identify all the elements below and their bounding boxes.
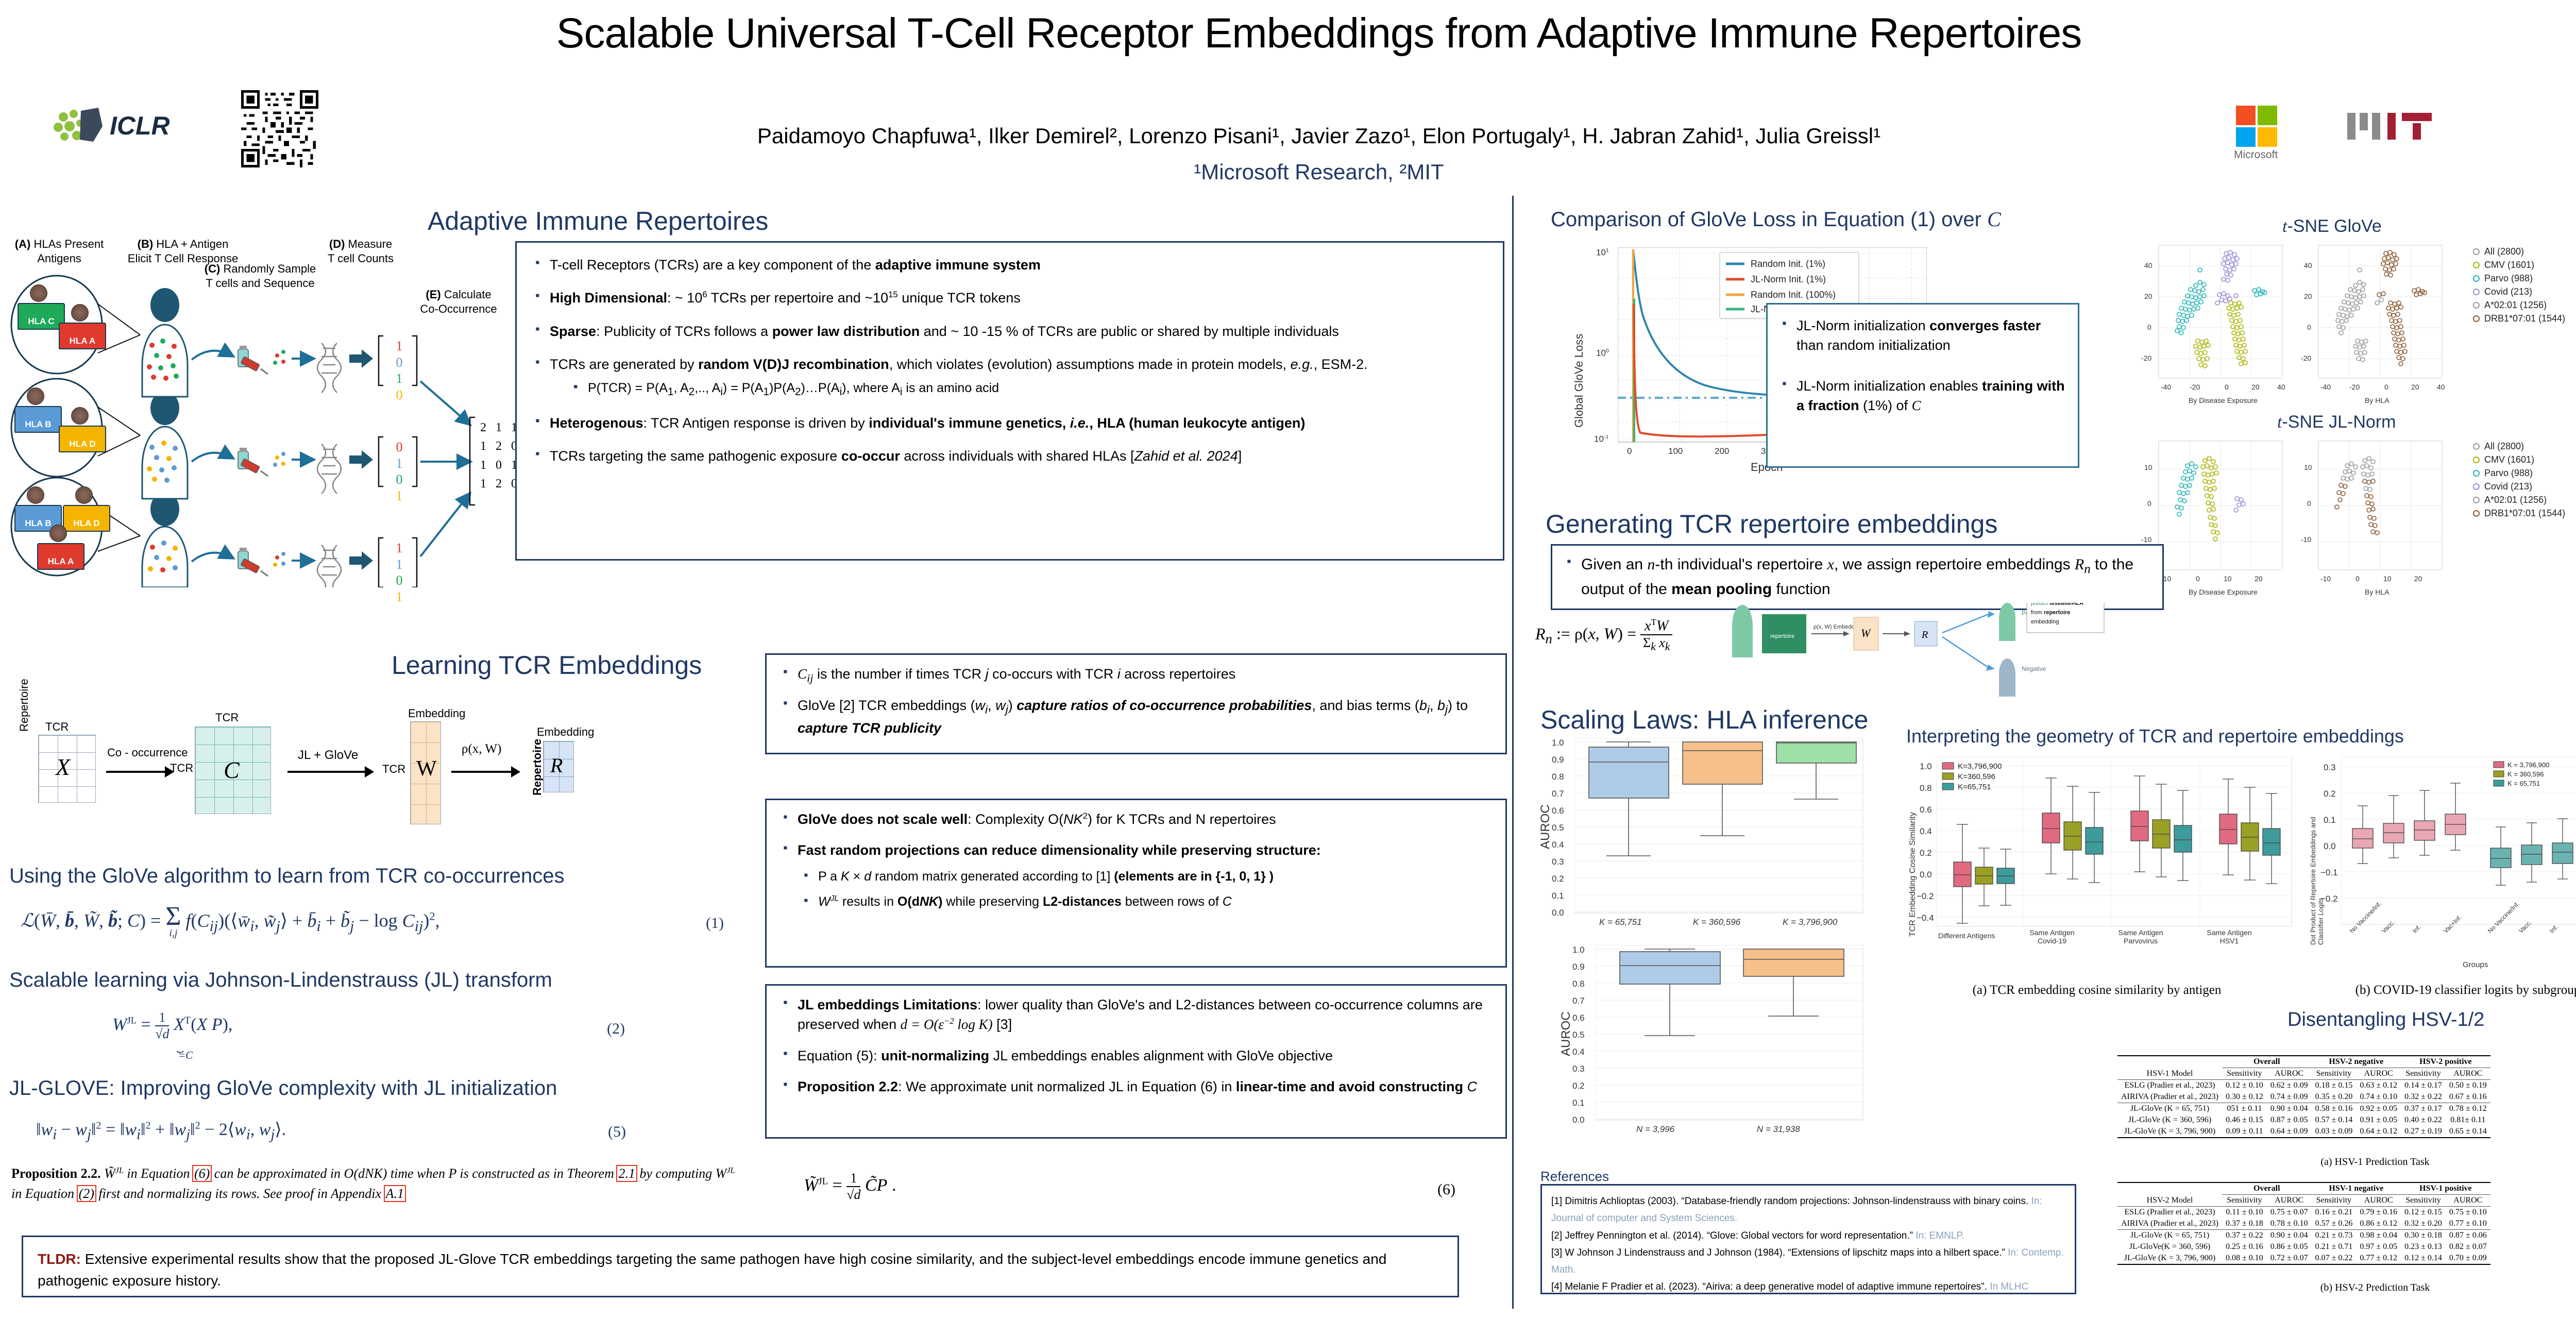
- hla-k-ytick-10: 1.0: [1552, 738, 1564, 748]
- equation-5-number: (5): [608, 1123, 626, 1141]
- flow-arrow-2-label: JL + GloVe: [298, 748, 358, 763]
- hsv1-r0-c0: 0.12 ± 0.10: [2222, 1080, 2267, 1092]
- svg-text:By Disease Exposure: By Disease Exposure: [2189, 396, 2258, 404]
- matrix-R-symbol: R: [550, 753, 563, 777]
- hsv1-r3-c3: 0.91 ± 0.05: [2356, 1114, 2401, 1126]
- hla-n-ytick-06: 0.6: [1572, 1013, 1585, 1023]
- flow-arrow-2-head: [365, 766, 374, 777]
- air-bullet-4: TCRs are generated by random V(D)J recom…: [532, 354, 1487, 400]
- legend-item-drb10701: DRB1*07:01 (1544): [2473, 508, 2565, 519]
- svg-text:-20: -20: [2141, 354, 2151, 362]
- hsv1-r0-c2: 0.18 ± 0.15: [2312, 1080, 2357, 1092]
- hsv2-r4-c1: 0.72 ± 0.07: [2267, 1253, 2312, 1264]
- jl-bullet-list: JL embeddings Limitations: lower quality…: [767, 986, 1505, 1119]
- svg-text:By Disease Exposure: By Disease Exposure: [2189, 588, 2258, 596]
- svg-text:repertoire: repertoire: [1770, 633, 1794, 639]
- matrix-C-symbol: C: [224, 756, 240, 784]
- hla-k-ytick-09: 0.9: [1552, 755, 1564, 765]
- scaling-bullet-1: GloVe does not scale well: Complexity O(…: [780, 809, 1492, 829]
- antigen-icon: [49, 525, 67, 542]
- section-jl-glove: JL-GLOVE: Improving GloVe complexity wit…: [9, 1077, 557, 1100]
- hsv1-r2-c4: 0.37 ± 0.17: [2401, 1103, 2446, 1115]
- poster-root: Scalable Universal T-Cell Receptor Embed…: [0, 0, 2576, 1319]
- hla-k-xtick-1: K = 65,751: [1599, 917, 1642, 927]
- tcell-count-vector-3: 11 01: [387, 540, 411, 605]
- logits-xlabel: Groups: [2463, 960, 2488, 969]
- svg-text:0: 0: [2196, 574, 2200, 583]
- mit-logo: [2344, 106, 2447, 147]
- hla-k-ytick-04: 0.4: [1552, 840, 1564, 850]
- equation-2-number: (2): [607, 1020, 625, 1038]
- svg-text:20: 20: [2144, 292, 2153, 300]
- hsv2-sub-4: Sensitivity: [2401, 1195, 2446, 1207]
- tcell-count-vector-2: 01 01: [387, 439, 411, 504]
- hla-chip-d: HLA D: [59, 426, 106, 452]
- section-disentangling: Disentangling HSV-1/2: [2287, 1009, 2484, 1031]
- hsv1-r2-c0: 051 ± 0.11: [2222, 1103, 2267, 1115]
- hsv2-r2-c1: 0.90 ± 0.04: [2267, 1230, 2312, 1242]
- antigen-icon: [30, 284, 47, 302]
- hsv1-r0-c5: 0.50 ± 0.19: [2446, 1080, 2490, 1092]
- flow-label-tcr-w: TCR: [382, 763, 405, 776]
- svg-text:40: 40: [2437, 383, 2445, 391]
- flow-arrow-3-head: [511, 766, 520, 777]
- hsv1-sub-5: AUROC: [2446, 1068, 2490, 1080]
- hsv2-r2-c2: 0.21 ± 0.73: [2312, 1230, 2357, 1242]
- table-row: JL-GloVe (K = 360, 596) 0.46 ± 0.15 0.87…: [2117, 1114, 2490, 1126]
- cos-ytick-06: 0.6: [1920, 805, 1932, 815]
- svg-text:0: 0: [2307, 499, 2311, 508]
- table-row: ESLG (Pradier et al., 2023) 0.12 ± 0.10 …: [2117, 1080, 2490, 1092]
- flow-label-tcr-c-top: TCR: [215, 711, 239, 724]
- air-bullet-5: Heterogenous: TCR Antigen response is dr…: [532, 413, 1487, 433]
- svg-text:K = 360,596: K = 360,596: [2507, 770, 2544, 778]
- hsv1-r4-c3: 0.64 ± 0.12: [2356, 1126, 2401, 1138]
- hla-k-ytick-07: 0.7: [1552, 789, 1564, 799]
- tcell-count-vector-1: 10 10: [387, 338, 411, 403]
- hsv2-results-table: Overall HSV-1 negative HSV-1 positive HS…: [2117, 1182, 2490, 1265]
- table-row: JL-GloVe (K = 65, 751) 0.37 ± 0.22 0.90 …: [2117, 1230, 2490, 1242]
- legend-item-parvo: Parvo (988): [2473, 273, 2565, 284]
- reference-item-1: [1] Dimitris Achlioptas (2003). “Databas…: [1551, 1193, 2065, 1227]
- hsv2-r1-name: AIRIVA (Pradier et al., 2023): [2117, 1218, 2222, 1230]
- hsv2-r2-c5: 0.87 ± 0.06: [2446, 1230, 2490, 1242]
- legend-item-a0201: A*02:01 (1256): [2473, 300, 2565, 311]
- hsv1-r3-name: JL-GloVe (K = 360, 596): [2117, 1114, 2222, 1126]
- hsv1-group-pos: HSV-2 positive: [2401, 1056, 2490, 1068]
- repertoire-pipeline-figure: repertoire ρ(x, W) Embedding W R: [1721, 603, 2159, 716]
- section-glove-algorithm: Using the GloVe algorithm to learn from …: [9, 865, 564, 888]
- covid-logits-caption: (b) COVID-19 classifier logits by subgro…: [2308, 983, 2576, 997]
- hsv2-row-header: HSV-2 Model: [2117, 1195, 2222, 1207]
- scaling-bullet-list: GloVe does not scale well: Complexity O(…: [767, 800, 1505, 934]
- flow-label-tcr-c-left: TCR: [170, 762, 193, 775]
- hla-k-ytick-00: 0.0: [1552, 908, 1564, 918]
- hsv2-r0-c3: 0.79 ± 0.16: [2356, 1207, 2401, 1219]
- flow-arrow-2: [287, 771, 366, 773]
- section-scaling-laws: Scaling Laws: HLA inference: [1540, 705, 1868, 735]
- hsv2-sub-5: AUROC: [2446, 1195, 2490, 1207]
- hsv1-group-header-row: Overall HSV-2 negative HSV-2 positive: [2117, 1056, 2490, 1068]
- table-row: JL-GloVe (K = 65, 751) 051 ± 0.11 0.90 ±…: [2117, 1103, 2490, 1115]
- hsv1-r3-c0: 0.46 ± 0.15: [2222, 1114, 2267, 1126]
- svg-text:K=360,596: K=360,596: [1958, 772, 1995, 781]
- air-bullet-2: High Dimensional: ~ 106 TCRs per reperto…: [532, 288, 1487, 308]
- logits-ytick-01: 0.1: [2324, 815, 2336, 825]
- table-row: AIRIVA (Pradier et al., 2023) 0.30 ± 0.1…: [2117, 1091, 2490, 1103]
- svg-text:By HLA: By HLA: [2365, 588, 2389, 596]
- glove-loss-bullet-1: JL-Norm initialization converges faster …: [1779, 316, 2066, 356]
- glove-loss-bullet-box: JL-Norm initialization converges faster …: [1766, 303, 2079, 468]
- svg-text:20: 20: [2251, 383, 2260, 391]
- hsv1-r0-c1: 0.62 ± 0.09: [2267, 1080, 2312, 1092]
- hla-n-ytick-01: 0.1: [1572, 1098, 1585, 1108]
- hsv2-r0-c5: 0.75 ± 0.10: [2446, 1207, 2490, 1219]
- references-box: [1] Dimitris Achlioptas (2003). “Databas…: [1540, 1184, 2076, 1294]
- hsv1-r1-c2: 0.35 ± 0.20: [2312, 1091, 2357, 1103]
- svg-text:-40: -40: [2320, 383, 2331, 391]
- cos-ytick-m02: −0.2: [1917, 891, 1934, 902]
- hsv2-r3-c2: 0.21 ± 0.71: [2312, 1241, 2357, 1253]
- hsv1-r2-c2: 0.58 ± 0.16: [2312, 1103, 2357, 1115]
- glove-loss-bullet-2: JL-Norm initialization enables training …: [1779, 376, 2066, 416]
- tsne-glove-title: t-SNE GloVe: [2282, 216, 2382, 236]
- cos-ytick-00: 0.0: [1920, 870, 1932, 880]
- hsv1-r0-c3: 0.63 ± 0.12: [2356, 1080, 2401, 1092]
- svg-text:10: 10: [2144, 463, 2153, 471]
- hsv2-r2-name: JL-GloVe (K = 65, 751): [2117, 1230, 2222, 1242]
- tsne-jlnorm-legend: All (2800) CMV (1601) Parvo (988) Covid …: [2473, 441, 2565, 521]
- flow-arrow-3-label: ρ(x, W): [462, 742, 501, 756]
- page-title: Scalable Universal T-Cell Receptor Embed…: [0, 9, 2576, 58]
- hsv2-r4-name: JL-GloVe (K = 3, 796, 900): [2117, 1253, 2222, 1264]
- cos-ytick-10: 1.0: [1920, 762, 1932, 772]
- hla-n-ylabel: AUROC: [1559, 1011, 1573, 1056]
- glove-loss-ytick-1: 101: [1596, 247, 1609, 258]
- equation-2: WJL = 1 √d XT(X P), ⏟ =C: [112, 1010, 232, 1042]
- hsv1-r1-name: AIRIVA (Pradier et al., 2023): [2117, 1091, 2222, 1103]
- tldr-text: Extensive experimental results show that…: [38, 1251, 1386, 1289]
- hsv2-r1-c5: 0.77 ± 0.10: [2446, 1218, 2490, 1230]
- learning-bullet-1: Cij is the number if times TCR j co-occu…: [780, 664, 1492, 686]
- hsv2-r4-c0: 0.08 ± 0.10: [2222, 1253, 2267, 1264]
- legend-item-cmv: CMV (1601): [2473, 260, 2565, 270]
- flow-label-embedding-r: Embedding: [537, 725, 594, 739]
- hsv2-sub-2: Sensitivity: [2312, 1195, 2357, 1207]
- hsv1-r2-c1: 0.90 ± 0.04: [2267, 1103, 2312, 1115]
- svg-text:20: 20: [2411, 383, 2419, 391]
- hsv1-r3-c1: 0.87 ± 0.05: [2267, 1114, 2312, 1126]
- flow-label-tcr-x: TCR: [45, 720, 69, 734]
- hsv2-sub-0: Sensitivity: [2222, 1195, 2267, 1207]
- antigen-icon: [27, 486, 44, 504]
- hsv1-sub-1: AUROC: [2267, 1068, 2312, 1080]
- svg-text:10: 10: [2224, 574, 2232, 583]
- hla-k-xtick-2: K = 360,596: [1693, 917, 1740, 927]
- equation-1-number: (1): [706, 915, 724, 932]
- svg-text:40: 40: [2144, 261, 2153, 269]
- flow-arrow-1: [106, 771, 166, 773]
- svg-text:-40: -40: [2161, 383, 2171, 391]
- svg-text:-20: -20: [2301, 354, 2311, 362]
- svg-text:K = 3,796,900: K = 3,796,900: [2507, 761, 2549, 769]
- hsv1-r4-name: JL-GloVe (K = 3, 796, 900): [2117, 1126, 2222, 1138]
- hsv2-r1-c0: 0.37 ± 0.18: [2222, 1218, 2267, 1230]
- tsne-glove-legend: All (2800) CMV (1601) Parvo (988) Covid …: [2473, 246, 2565, 327]
- jl-bullet-2: Equation (5): unit-normalizing JL embedd…: [780, 1046, 1492, 1066]
- hsv1-r1-c5: 0.67 ± 0.16: [2446, 1091, 2490, 1103]
- hsv1-r1-c0: 0.30 ± 0.12: [2222, 1091, 2267, 1103]
- hsv2-r0-c1: 0.75 ± 0.07: [2267, 1207, 2312, 1219]
- hsv1-r4-c0: 0.09 ± 0.11: [2222, 1126, 2267, 1138]
- cos-xtick-2: Same AntigenCovid-19: [2024, 928, 2080, 945]
- equation-5: ‖wi − wj‖2 = ‖wi‖2 + ‖wj‖2 − 2⟨wi, wj⟩.: [36, 1119, 286, 1143]
- equation-6-number: (6): [1437, 1181, 1455, 1198]
- svg-text:40: 40: [2304, 261, 2312, 269]
- logits-ytick-00: 0.0: [2324, 841, 2336, 852]
- svg-text:predict disease/HLA: predict disease/HLA: [2031, 603, 2083, 606]
- jl-bullet-3: Proposition 2.2: We approximate unit nor…: [780, 1077, 1492, 1096]
- legend-item-parvo: Parvo (988): [2473, 468, 2565, 479]
- tsne-jlnorm-chart: 100-10 100-10 -1001020 -1001020 By Disea…: [2138, 438, 2478, 608]
- hsv2-sub-header-row: HSV-2 Model Sensitivity AUROC Sensitivit…: [2117, 1195, 2490, 1207]
- hsv2-group-neg: HSV-1 negative: [2312, 1182, 2401, 1195]
- cosine-similarity-caption: (a) TCR embedding cosine similarity by a…: [1906, 983, 2287, 997]
- glove-loss-xtick-0: 0: [1627, 446, 1632, 456]
- glove-loss-ytick-2: 100: [1596, 348, 1609, 359]
- scaling-bullet-2b: WJL results in O(dNK) while preserving L…: [801, 893, 1492, 911]
- hla-k-ylabel: AUROC: [1538, 804, 1553, 849]
- hla-k-ytick-06: 0.6: [1552, 806, 1564, 816]
- cos-xtick-1: Different Antigens: [1938, 932, 1995, 940]
- hsv2-r0-name: ESLG (Pradier et al., 2023): [2117, 1207, 2222, 1219]
- svg-text:JL-Norm Init. (1%): JL-Norm Init. (1%): [1751, 274, 1826, 284]
- svg-text:-10: -10: [2320, 574, 2331, 583]
- hsv1-r3-c2: 0.57 ± 0.14: [2312, 1114, 2357, 1126]
- flow-label-repertoire: Repertoire: [18, 679, 31, 732]
- hsv2-r1-c1: 0.78 ± 0.10: [2267, 1218, 2312, 1230]
- hla-n-ytick-10: 1.0: [1572, 945, 1585, 955]
- hsv2-r3-c4: 0.23 ± 0.13: [2401, 1241, 2446, 1253]
- hsv2-r4-c3: 0.77 ± 0.12: [2356, 1253, 2401, 1264]
- tsne-glove-chart: 40200-20 40200-20 -40-200 2040 -40-200 2…: [2138, 242, 2478, 412]
- tldr-label: TLDR:: [38, 1251, 81, 1267]
- air-bullet-4a: ▪ P(TCR) = P(A1, A2,.., Ai) = P(A1)P(A2)…: [570, 379, 1487, 400]
- table-row: JL-GloVe (K = 3, 796, 900) 0.08 ± 0.10 0…: [2117, 1253, 2490, 1264]
- legend-item-cmv: CMV (1601): [2473, 454, 2565, 465]
- logits-ytick-02: 0.2: [2324, 789, 2336, 799]
- hsv1-r4-c4: 0.27 ± 0.19: [2401, 1126, 2446, 1138]
- cos-ytick-04: 0.4: [1920, 826, 1932, 837]
- hla-n-xtick-2: N = 31,938: [1757, 1124, 1800, 1135]
- legend-item-drb10701: DRB1*07:01 (1544): [2473, 313, 2565, 324]
- flow-label-embedding-w: Embedding: [408, 707, 465, 720]
- section-jl-transform: Scalable learning via Johnson-Lindenstra…: [9, 969, 552, 992]
- hsv1-r1-c3: 0.74 ± 0.10: [2356, 1091, 2401, 1103]
- microsoft-logo: Microsoft: [2221, 100, 2308, 162]
- hla-n-ytick-04: 0.4: [1572, 1047, 1585, 1057]
- svg-text:Random Init. (1%): Random Init. (1%): [1751, 259, 1825, 269]
- hla-n-ytick-08: 0.8: [1572, 979, 1585, 989]
- equation-rn: Rn := ρ(x, W) = xTW Σk xk: [1535, 617, 1672, 654]
- hsv1-sub-3: AUROC: [2356, 1068, 2401, 1080]
- reference-item-4: [4] Melanie F Pradier et al. (2023). “Ai…: [1551, 1278, 2065, 1295]
- hsv1-r4-c1: 0.64 ± 0.09: [2267, 1126, 2312, 1138]
- hsv1-table-caption: (a) HSV-1 Prediction Task: [2117, 1156, 2576, 1168]
- air-bullet-3: Sparse: Publicity of TCRs follows a powe…: [532, 322, 1487, 341]
- hsv2-r1-c2: 0.57 ± 0.26: [2312, 1218, 2357, 1230]
- jl-limitations-box: JL embeddings Limitations: lower quality…: [765, 984, 1507, 1139]
- hsv1-group-neg: HSV-2 negative: [2312, 1056, 2401, 1068]
- svg-text:20: 20: [2414, 574, 2422, 583]
- cos-xtick-3: Same AntigenParvovirus: [2112, 928, 2169, 945]
- cos-ytick-m04: −0.4: [1917, 913, 1934, 923]
- hsv2-r2-c3: 0.98 ± 0.04: [2356, 1230, 2401, 1242]
- svg-text:Negative: Negative: [2022, 665, 2046, 672]
- hsv1-r3-c5: 0.81± 0.11: [2446, 1114, 2490, 1126]
- section-glove-loss: Comparison of GloVe Loss in Equation (1)…: [1551, 207, 2001, 231]
- hla-k-ytick-08: 0.8: [1552, 772, 1564, 782]
- matrix-W-symbol: W: [416, 756, 437, 781]
- svg-text:-20: -20: [2190, 383, 2200, 391]
- svg-text:K=3,796,900: K=3,796,900: [1958, 762, 2002, 771]
- hsv1-r4-c5: 0.65 ± 0.14: [2446, 1126, 2490, 1138]
- antigen-icon: [75, 486, 93, 504]
- hla-k-boxplot: AUROC: [1540, 738, 1875, 928]
- hla-k-ytick-03: 0.3: [1552, 857, 1564, 867]
- hsv2-sub-3: AUROC: [2356, 1195, 2401, 1207]
- svg-text:0: 0: [2355, 574, 2360, 583]
- hla-n-ytick-09: 0.9: [1572, 962, 1585, 972]
- hsv1-sub-0: Sensitivity: [2222, 1068, 2267, 1080]
- table-row: JL-GloVe (K = 3, 796, 900) 0.09 ± 0.11 0…: [2117, 1126, 2490, 1138]
- svg-text:0: 0: [2147, 499, 2151, 508]
- hsv2-r4-c2: 0.07 ± 0.22: [2312, 1253, 2357, 1264]
- logits-ytick-m02: −0.2: [2320, 894, 2338, 904]
- hsv2-r3-c0: 0.25 ± 0.16: [2222, 1241, 2267, 1253]
- air-bullet-6: TCRs targeting the same pathogenic expos…: [532, 446, 1487, 466]
- proposition-2-2: Proposition 2.2. W̃JL in Equation (6) ca…: [11, 1163, 748, 1204]
- svg-text:-20: -20: [2349, 383, 2360, 391]
- prop-ref-2-1[interactable]: 2.1: [617, 1166, 636, 1181]
- svg-text:Microsoft: Microsoft: [2234, 149, 2278, 161]
- cos-ytick-08: 0.8: [1920, 783, 1932, 793]
- legend-item-all: All (2800): [2473, 246, 2565, 257]
- legend-item-all: All (2800): [2473, 441, 2565, 452]
- equation-1: ℒ(W̄, b̄, W̃, b̃; C) = Σ i,j f(Cij)(⟨w̄i…: [21, 906, 440, 939]
- hla-n-ytick-00: 0.0: [1572, 1115, 1585, 1125]
- air-bullet-1: T-cell Receptors (TCRs) are a key compon…: [532, 255, 1487, 275]
- hla-chip-b: HLA B: [14, 406, 62, 433]
- hla-n-ytick-05: 0.5: [1572, 1030, 1585, 1040]
- matrix-X-symbol: X: [56, 753, 70, 781]
- table-row: JL-GloVe(K = 360, 596) 0.25 ± 0.16 0.86 …: [2117, 1241, 2490, 1253]
- hsv2-r1-c4: 0.32 ± 0.20: [2401, 1218, 2446, 1230]
- hsv2-group-pos: HSV-1 positive: [2401, 1182, 2490, 1195]
- glove-loss-bullet-list: JL-Norm initialization converges faster …: [1768, 305, 2078, 440]
- air-bullet-box: T-cell Receptors (TCRs) are a key compon…: [515, 241, 1504, 561]
- antigen-icon: [27, 387, 44, 405]
- hsv1-r4-c2: 0.03 ± 0.09: [2312, 1126, 2357, 1138]
- antigen-icon: [71, 407, 89, 425]
- repertoire-schematic: (A) HLAs PresentAntigens (B) HLA + Antig…: [5, 227, 495, 587]
- cosine-similarity-chart: TCR Embedding Cosine Similarity: [1906, 756, 2298, 973]
- prop-ref-a1[interactable]: A.1: [385, 1186, 405, 1201]
- logits-ytick-m01: −0.1: [2320, 868, 2338, 878]
- svg-text:10: 10: [2383, 574, 2392, 583]
- glove-loss-xtick-100: 100: [1668, 446, 1683, 456]
- hla-chip-d2: HLA D: [63, 505, 110, 532]
- hsv2-table-caption: (b) HSV-2 Prediction Task: [2117, 1282, 2576, 1294]
- legend-item-covid: Covid (213): [2473, 286, 2565, 297]
- hsv1-sub-4: Sensitivity: [2401, 1068, 2446, 1080]
- hla-k-ytick-02: 0.2: [1552, 874, 1564, 884]
- hsv2-r0-c0: 0.11 ± 0.10: [2222, 1207, 2267, 1219]
- hsv1-r0-name: ESLG (Pradier et al., 2023): [2117, 1080, 2222, 1092]
- hsv2-r0-c4: 0.12 ± 0.15: [2401, 1207, 2446, 1219]
- hla-k-ytick-05: 0.5: [1552, 823, 1564, 833]
- svg-text:-10: -10: [2301, 535, 2311, 544]
- generating-bullet-1: Given an n-th individual's repertoire x,…: [1564, 554, 2151, 600]
- table-row: AIRIVA (Pradier et al., 2023) 0.37 ± 0.1…: [2117, 1218, 2490, 1230]
- scaling-bullet-box: GloVe does not scale well: Complexity O(…: [765, 799, 1507, 968]
- svg-text:10: 10: [2304, 463, 2312, 471]
- cos-xtick-4: Same AntigenHSV1: [2201, 928, 2258, 945]
- hsv1-r1-c4: 0.32 ± 0.22: [2401, 1091, 2446, 1103]
- prop-ref-6[interactable]: (6): [193, 1166, 211, 1181]
- glove-loss-xtick-200: 200: [1715, 446, 1729, 456]
- svg-text:0: 0: [2225, 383, 2229, 391]
- references-title: References: [1540, 1169, 1609, 1185]
- svg-text:Random Init. (100%): Random Init. (100%): [1751, 290, 1836, 300]
- author-list: Paidamoyo Chapfuwa¹, Ilker Demirel², Lor…: [0, 124, 2576, 148]
- hla-k-ytick-01: 0.1: [1552, 891, 1564, 901]
- hsv1-row-header: HSV-1 Model: [2117, 1068, 2222, 1080]
- jl-bullet-1: JL embeddings Limitations: lower quality…: [780, 995, 1492, 1035]
- svg-text:0: 0: [2384, 383, 2388, 391]
- svg-text:20: 20: [2255, 574, 2263, 583]
- equation-6: W̃JL = 1 √d C̃P .: [804, 1171, 896, 1203]
- hsv2-r0-c2: 0.16 ± 0.21: [2312, 1207, 2357, 1219]
- hsv1-sub-2: Sensitivity: [2312, 1068, 2357, 1080]
- svg-text:0: 0: [2307, 323, 2311, 331]
- flow-label-cooccurrence: Co - occurrence: [107, 746, 188, 759]
- hsv1-r3-c4: 0.40 ± 0.22: [2401, 1114, 2446, 1126]
- tsne-jlnorm-title: t-SNE JL-Norm: [2277, 412, 2396, 432]
- hsv1-group-overall: Overall: [2222, 1056, 2312, 1068]
- learning-bullet-2: GloVe [2] TCR embeddings (wi, wj) captur…: [780, 696, 1492, 738]
- scaling-bullet-2a: P a K × d random matrix generated accord…: [801, 868, 1492, 886]
- hla-chip-c: HLA C: [18, 303, 65, 330]
- svg-text:embedding: embedding: [2031, 619, 2059, 625]
- learning-bullet-box: Cij is the number if times TCR j co-occu…: [765, 653, 1507, 754]
- proposition-label: Proposition 2.2.: [11, 1166, 101, 1181]
- hsv2-r3-c3: 0.97 ± 0.05: [2356, 1241, 2401, 1253]
- hsv1-r1-c1: 0.74 ± 0.09: [2267, 1091, 2312, 1103]
- hsv1-r0-c4: 0.14 ± 0.17: [2401, 1080, 2446, 1092]
- svg-text:By HLA: By HLA: [2365, 396, 2389, 404]
- svg-text:K=65,751: K=65,751: [1958, 783, 1991, 791]
- scaling-bullet-2: Fast random projections can reduce dimen…: [780, 840, 1492, 860]
- hsv2-r1-c3: 0.86 ± 0.12: [2356, 1218, 2401, 1230]
- hla-n-ytick-07: 0.7: [1572, 996, 1585, 1006]
- hsv1-r2-name: JL-GloVe (K = 65, 751): [2117, 1103, 2222, 1115]
- svg-text:0: 0: [2147, 323, 2151, 331]
- legend-item-a0201: A*02:01 (1256): [2473, 495, 2565, 505]
- flow-arrow-3: [451, 771, 512, 773]
- prop-ref-2[interactable]: (2): [78, 1186, 95, 1201]
- hsv1-r2-c3: 0.92 ± 0.05: [2356, 1103, 2401, 1115]
